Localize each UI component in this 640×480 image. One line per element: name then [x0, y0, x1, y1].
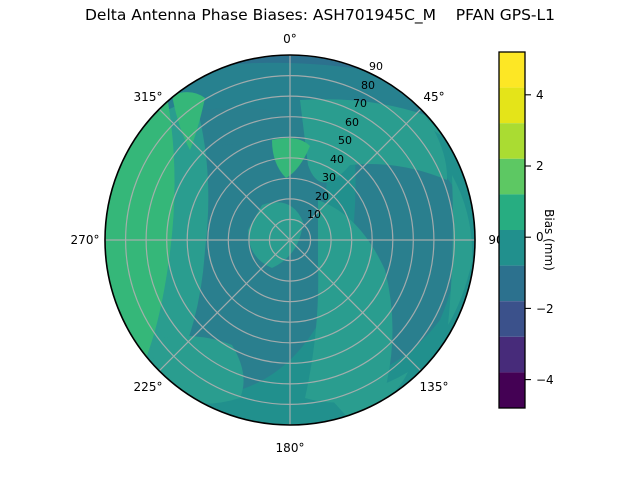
polar-grid	[105, 55, 475, 425]
r-label-70: 70	[353, 97, 367, 110]
colorbar-band-6	[499, 159, 525, 195]
theta-label-315: 315°	[134, 90, 163, 104]
theta-label-180: 180°	[276, 441, 305, 455]
colorbar-band-2	[499, 301, 525, 337]
colorbar-bands	[499, 52, 525, 408]
r-label-30: 30	[322, 171, 336, 184]
r-label-50: 50	[338, 134, 352, 147]
colorbar-band-1	[499, 337, 525, 373]
r-label-80: 80	[361, 79, 375, 92]
theta-label-270: 270°	[71, 233, 100, 247]
colorbar-band-5	[499, 194, 525, 230]
colorbar-ticks	[525, 95, 531, 380]
colorbar-band-0	[499, 372, 525, 408]
colorbar-band-8	[499, 88, 525, 124]
colorbar-band-7	[499, 123, 525, 159]
colorbar-axis-label: Bias (mm)	[542, 150, 556, 330]
theta-label-45: 45°	[423, 90, 444, 104]
colorbar-ticklabel-4: 4	[536, 88, 544, 102]
r-label-90: 90	[369, 60, 383, 73]
colorbar-band-3	[499, 266, 525, 302]
r-label-20: 20	[315, 190, 329, 203]
theta-label-225: 225°	[134, 380, 163, 394]
r-label-40: 40	[330, 153, 344, 166]
r-label-60: 60	[345, 116, 359, 129]
colorbar-band-4	[499, 230, 525, 266]
colorbar-band-9	[499, 52, 525, 88]
theta-label-0: 0°	[283, 32, 297, 46]
theta-label-135: 135°	[420, 380, 449, 394]
colorbar-ticklabel-neg4: −4	[536, 373, 554, 387]
r-label-10: 10	[307, 208, 321, 221]
